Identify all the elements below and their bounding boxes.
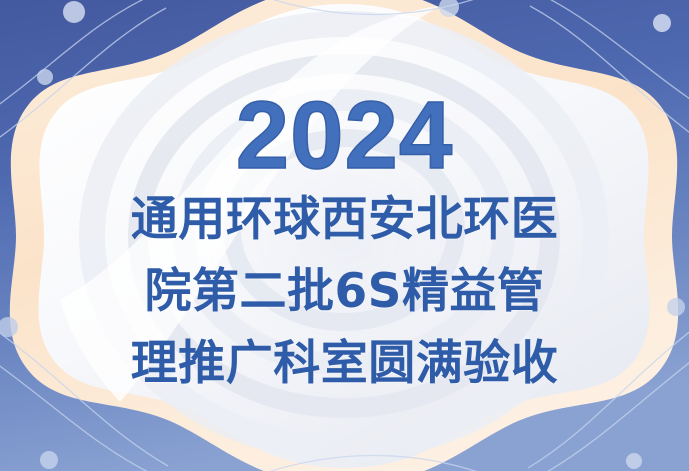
headline-line-1: 通用环球西安北环医 <box>131 186 559 254</box>
poster-text-block: 2024 通用环球西安北环医 院第二批6S精益管 理推广科室圆满验收 <box>0 0 689 471</box>
poster-canvas: 2024 通用环球西安北环医 院第二批6S精益管 理推广科室圆满验收 <box>0 0 689 471</box>
headline-lines: 通用环球西安北环医 院第二批6S精益管 理推广科室圆满验收 <box>131 186 559 397</box>
headline-line-2: 院第二批6S精益管 <box>144 258 544 326</box>
year-heading: 2024 <box>236 92 454 180</box>
headline-line-3: 理推广科室圆满验收 <box>131 330 559 398</box>
